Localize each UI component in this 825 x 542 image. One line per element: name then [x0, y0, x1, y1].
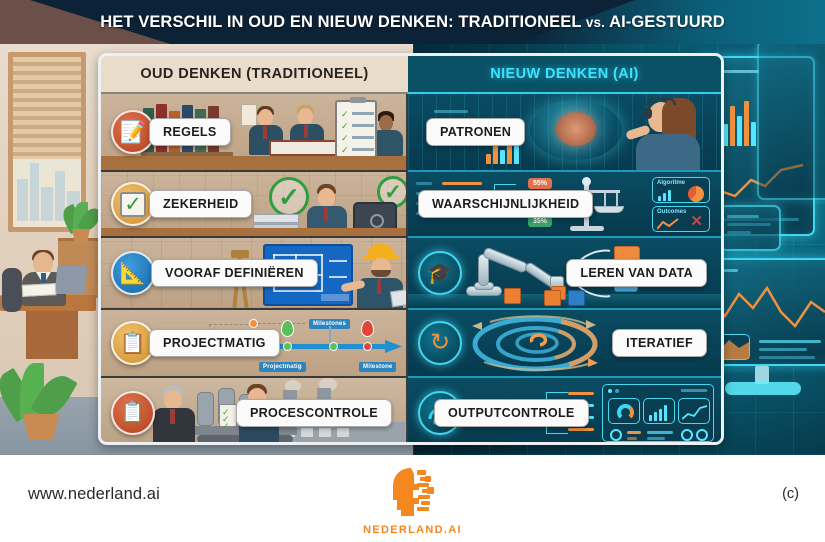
analytics-dashboard	[602, 384, 714, 442]
tag-projectmatig: Projectmatig	[259, 362, 306, 372]
table-row: ✓ ✓ ✓ ✓ 📝 REGELS	[101, 94, 721, 172]
comparison-rows: ✓ ✓ ✓ ✓ 📝 REGELS	[101, 94, 721, 442]
title-vs: vs.	[586, 15, 605, 30]
outcomes-card-label: Outcomes	[657, 209, 686, 215]
monitor-base	[725, 382, 801, 395]
cube-orange-2	[544, 290, 561, 306]
title-main: HET VERSCHIL IN OUD EN NIEUW DENKEN: TRA…	[100, 13, 581, 31]
table-row: Milestones Projectmatig Milestone 📋 PROJ…	[101, 310, 721, 378]
cell-new-iteratief: ↻ ITERATIEF	[408, 310, 721, 378]
label-zekerheid: ZEKERHEID	[149, 190, 252, 218]
dashboard-gauge-panel	[608, 398, 640, 424]
clipboard-check-icon: 📋	[111, 391, 155, 435]
column-header-new: NIEUW DENKEN (AI)	[408, 56, 721, 94]
timeline-pin-red	[361, 320, 374, 337]
timeline-node-a	[249, 319, 258, 328]
graduation-cap-icon: 🎓	[418, 251, 462, 295]
small-tablet	[719, 205, 781, 251]
label-vooraf-definieren: VOORAF DEFINIËREN	[151, 259, 318, 287]
label-projectmatig: PROJECTMATIG	[149, 329, 280, 357]
office-chair	[2, 268, 22, 312]
algorithm-card-label: Algoritme	[657, 180, 685, 186]
potted-plant-top	[62, 196, 100, 244]
wall-screen-right	[757, 40, 825, 200]
label-waarschijnlijkheid: WAARSCHIJNLIJKHEID	[418, 190, 593, 218]
timeline-pin-green	[281, 320, 294, 337]
engineer-tablet	[390, 289, 408, 308]
timeline-node-4	[363, 342, 372, 351]
footer-copyright: (c)	[782, 486, 799, 502]
timeline-node-2	[283, 342, 292, 351]
brand-logo-text: NEDERLAND.AI	[328, 524, 498, 536]
cell-old-procescontrole: ✓ ✓ ✓ 📋 PROCESCONTROLE	[101, 378, 408, 445]
refresh-cycle-icon: ↻	[418, 321, 462, 365]
inspection-clipboard: ✓ ✓ ✓	[219, 404, 237, 427]
footer-bar: www.nederland.ai NEDERLAND.AI (c)	[0, 455, 825, 542]
desk-papers	[22, 283, 57, 297]
cell-old-projectmatig: Milestones Projectmatig Milestone 📋 PROJ…	[101, 310, 408, 378]
column-header-old-label: OUD DENKEN (TRADITIONEEL)	[140, 66, 368, 82]
title-bar: HET VERSCHIL IN OUD EN NIEUW DENKEN: TRA…	[0, 0, 825, 44]
cell-old-vooraf-definieren: 📐 VOORAF DEFINIËREN	[101, 238, 408, 310]
outcomes-card: Outcomes ✕	[652, 206, 710, 232]
blueprint-ruler-icon: 📐	[111, 251, 155, 295]
woman-with-headset	[626, 98, 706, 172]
timeline-node-3	[329, 342, 338, 351]
column-header-old: OUD DENKEN (TRADITIONEEL)	[101, 56, 408, 94]
potted-plant-bottom	[2, 358, 80, 440]
infographic-canvas: HET VERSCHIL IN OUD EN NIEUW DENKEN: TRA…	[0, 0, 825, 542]
column-header-new-label: NIEUW DENKEN (AI)	[490, 66, 639, 82]
process-tank-1	[197, 392, 214, 426]
dashboard-trend-panel	[678, 398, 710, 424]
timeline-arrow-head	[385, 338, 403, 355]
page-title: HET VERSCHIL IN OUD EN NIEUW DENKEN: TRA…	[0, 0, 825, 44]
label-procescontrole: PROCESCONTROLE	[236, 399, 392, 427]
desk-front	[26, 311, 78, 359]
dashboard-bar-panel	[643, 398, 675, 424]
table-row: ✓ ✓ ✓	[101, 172, 721, 238]
cell-old-regels: ✓ ✓ ✓ ✓ 📝 REGELS	[101, 94, 408, 172]
table-row: 📐 VOORAF DEFINIËREN	[101, 238, 721, 310]
comparison-panel: OUD DENKEN (TRADITIONEEL) NIEUW DENKEN (…	[98, 53, 724, 445]
wall-frame	[241, 104, 257, 126]
checklist-board: ✓ ✓ ✓ ✓	[335, 100, 377, 158]
open-rulebook	[269, 140, 341, 156]
label-patronen: PATRONEN	[426, 118, 525, 146]
probability-badge-high: 55%	[528, 178, 552, 189]
cell-old-zekerheid: ✓ ✓ ✓	[101, 172, 408, 238]
label-iteratief: ITERATIEF	[612, 329, 707, 357]
label-leren-van-data: LEREN VAN DATA	[566, 259, 707, 287]
tripod-head	[231, 250, 249, 258]
cell-new-outputcontrole: OUTPUTCONTROLE	[408, 378, 721, 445]
large-green-check-1: ✓	[269, 177, 309, 217]
cube-orange-1	[504, 288, 521, 304]
cube-blue	[568, 290, 585, 306]
iteration-spiral	[470, 314, 600, 374]
title-tail: AI-GESTUURD	[609, 13, 725, 31]
pixelated-head-profile-logo	[381, 464, 445, 522]
cell-new-waarschijnlijkheid: 55% 35%	[408, 172, 721, 238]
algorithm-card: Algoritme	[652, 177, 710, 203]
cell-new-patronen: PATRONEN	[408, 94, 721, 172]
window-blinds	[13, 57, 81, 159]
table-row: ✓ ✓ ✓ 📋 PROCESCONTROLE	[101, 378, 721, 445]
meeting-table	[101, 156, 408, 170]
label-outputcontrole: OUTPUTCONTROLE	[434, 399, 589, 427]
label-regels: REGELS	[149, 118, 231, 146]
binder-1	[253, 214, 299, 223]
cell-new-leren-van-data: 🎓 LEREN VAN DATA	[408, 238, 721, 310]
footer-website-url[interactable]: www.nederland.ai	[28, 485, 160, 504]
desk-laptop	[55, 266, 88, 294]
brain-core	[556, 112, 596, 146]
tag-milestone: Milestone	[359, 362, 396, 372]
brand-logo: NEDERLAND.AI	[328, 464, 498, 536]
